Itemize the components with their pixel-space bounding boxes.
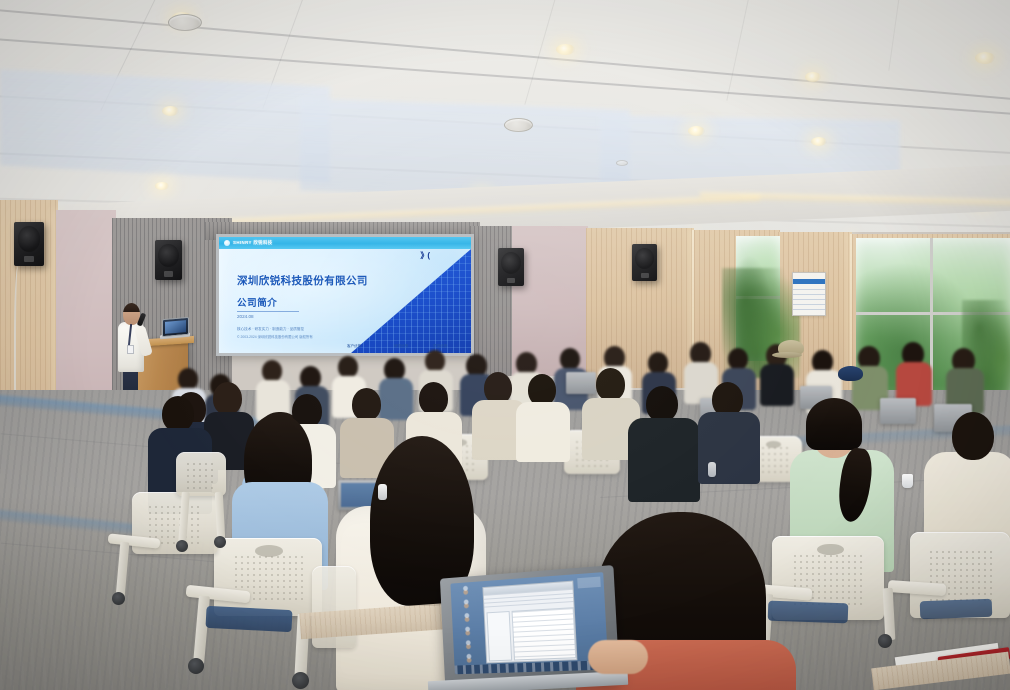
chair-seat-cushion (920, 599, 993, 620)
chair-perforation (754, 445, 791, 474)
paper-cup (902, 474, 913, 488)
downlight (155, 182, 169, 190)
slide-corner-graphic (351, 249, 471, 353)
poster-body-lines (793, 289, 825, 313)
presenter-badge (127, 345, 134, 354)
company-logo-icon (224, 240, 230, 246)
downlight (811, 137, 827, 146)
wall-speaker-left-rear (14, 222, 44, 266)
slide-fine-line-1: 核心技术 · 研发实力 · 制造能力 · 品质管控 (237, 327, 304, 332)
conference-room-photo: SHINRY 欣锐科技 》( 深圳欣锐科技股份有限公司 公司简介 2024.08… (0, 0, 1010, 690)
presentation-slide: SHINRY 欣锐科技 》( 深圳欣锐科技股份有限公司 公司简介 2024.08… (219, 237, 471, 353)
slide-circuit-texture (351, 249, 471, 353)
foreground-laptop[interactable] (438, 572, 614, 684)
slide-footer-tab-1: 客户优势 (347, 344, 361, 349)
wall-speaker-stage-right (498, 248, 524, 286)
downlight (805, 72, 821, 82)
ceiling-speaker (168, 14, 202, 31)
slide-fine-line-2: © 2003-2024 深圳欣锐科技股份有限公司 版权所有 (237, 334, 313, 339)
app-left-pane (486, 611, 512, 661)
audience-laptop (880, 398, 916, 424)
user-hand (588, 640, 648, 674)
slide-corner-mark: 》( (420, 250, 429, 261)
downlight (556, 44, 575, 55)
slide-footer-tab-2: 研发优势 (394, 344, 408, 349)
podium-laptop-screen[interactable] (162, 317, 189, 337)
slide-header-bar: SHINRY 欣锐科技 (219, 237, 471, 249)
chair-seat-cushion (205, 606, 292, 632)
downlight (688, 126, 705, 136)
chair-handle (766, 441, 781, 448)
foreground-laptop-screen[interactable] (450, 572, 608, 674)
wall-poster (792, 272, 826, 316)
wall-speaker-stage-left (155, 240, 182, 280)
slide-divider (237, 311, 299, 312)
downlight (162, 106, 179, 116)
poster-header-band (793, 279, 825, 284)
slide-footer-tab-3: 质量优势 (433, 344, 447, 349)
ceiling-sensor (616, 160, 628, 166)
app-grid-pane (511, 607, 576, 660)
slide-title: 深圳欣锐科技股份有限公司 (237, 273, 368, 288)
water-bottle (378, 484, 387, 500)
slide-subtitle: 公司简介 (237, 295, 277, 309)
audience-laptop (566, 372, 596, 394)
desktop-icons (453, 584, 481, 667)
chair-seat-cushion (768, 601, 849, 624)
ceiling-speaker (504, 118, 533, 132)
wall-speaker-right (632, 244, 657, 281)
water-bottle (708, 462, 716, 477)
slide-date: 2024.08 (237, 314, 254, 319)
slide-logo-text: SHINRY 欣锐科技 (233, 240, 273, 246)
app-window[interactable] (482, 580, 577, 663)
audience-cap-navy (838, 366, 863, 381)
audience-cap-brim (772, 352, 802, 358)
downlight (975, 52, 995, 64)
